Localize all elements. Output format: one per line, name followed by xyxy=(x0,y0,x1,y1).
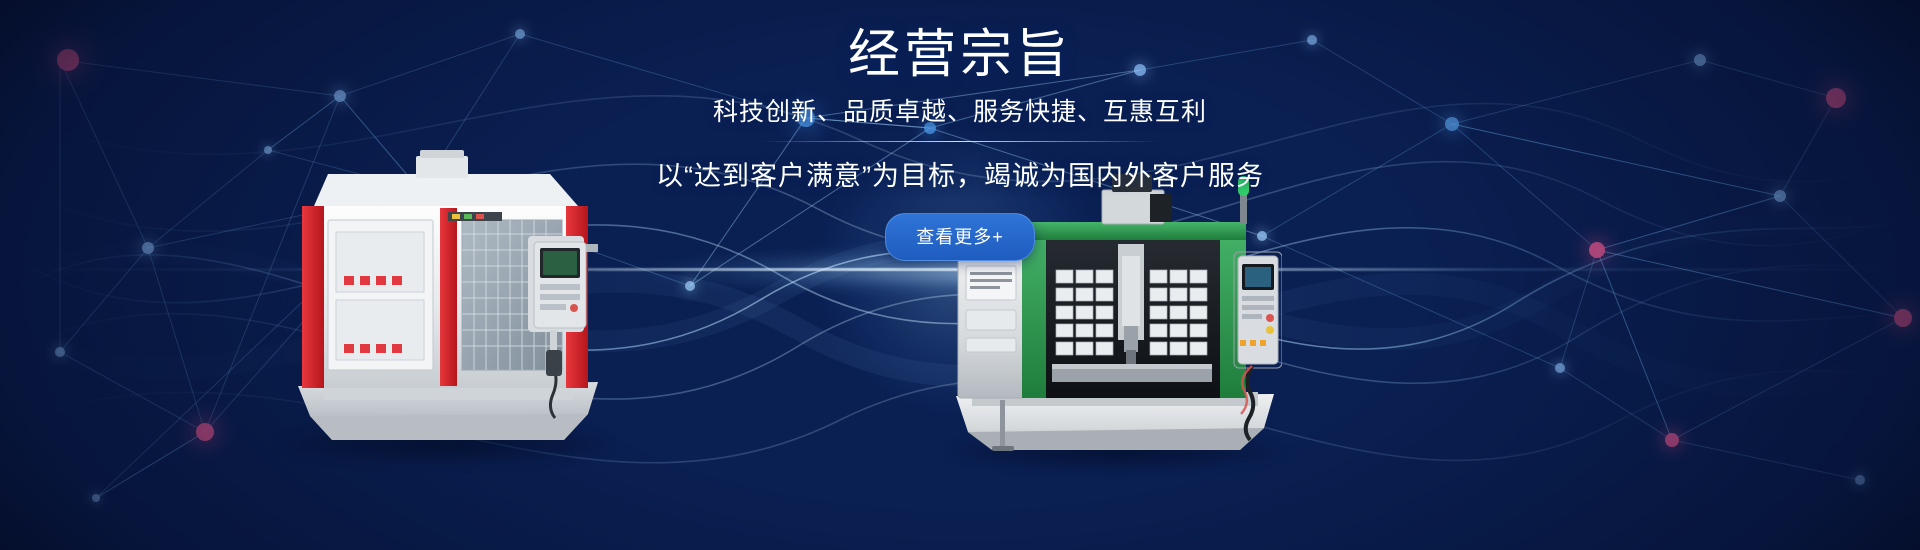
banner-text-block: 经营宗旨 科技创新、品质卓越、服务快捷、互惠互利 以“达到客户满意”为目标，竭诚… xyxy=(0,0,1920,261)
node-dot xyxy=(1665,433,1679,447)
banner-root: 经营宗旨 科技创新、品质卓越、服务快捷、互惠互利 以“达到客户满意”为目标，竭诚… xyxy=(0,0,1920,550)
subtitle-primary: 科技创新、品质卓越、服务快捷、互惠互利 xyxy=(0,92,1920,128)
node-dot xyxy=(1855,475,1865,485)
node-dot xyxy=(685,281,695,291)
divider xyxy=(760,141,1160,142)
node-dot xyxy=(196,423,214,441)
subtitle-secondary: 以“达到客户满意”为目标，竭诚为国内外客户服务 xyxy=(0,154,1920,193)
node-dot xyxy=(1894,309,1912,327)
node-dot xyxy=(1555,363,1565,373)
node-dot xyxy=(55,347,65,357)
node-dot xyxy=(92,494,100,502)
page-title: 经营宗旨 xyxy=(0,26,1920,84)
view-more-button[interactable]: 查看更多+ xyxy=(885,213,1035,261)
